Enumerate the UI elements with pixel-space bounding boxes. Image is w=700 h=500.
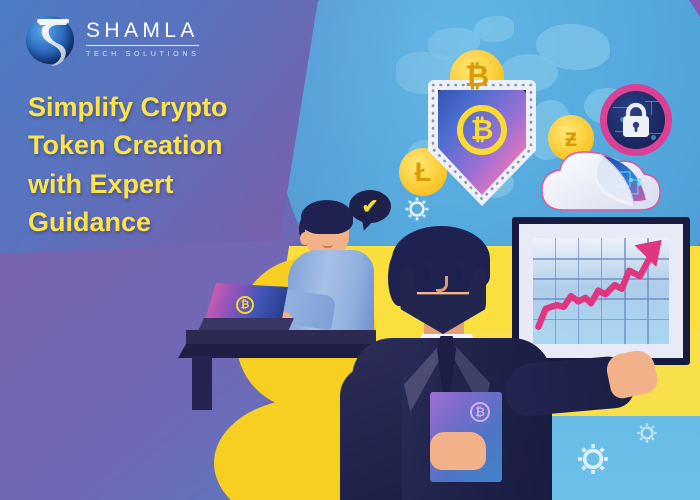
check-icon: ✔ (362, 194, 379, 219)
headline-line-1: Simplify Crypto (28, 88, 308, 126)
presenter-eyebrow-left (419, 260, 435, 264)
gear-icon (576, 442, 610, 476)
promo-banner: Ł ƶ ₿ ₿ (0, 0, 700, 500)
shield-icon: ₿ (428, 80, 536, 206)
chart-plot-area (533, 238, 669, 344)
presenter-hand-left (430, 432, 486, 470)
coin-symbol-zcash: ƶ (565, 124, 578, 153)
speech-bubble: ✔ (349, 190, 391, 223)
person-hair (301, 200, 353, 234)
brand-name: SHAMLA (86, 20, 199, 46)
headline-line-3: with Expert (28, 165, 308, 203)
shield-bitcoin-symbol: ₿ (457, 105, 507, 155)
s-ribbon-icon (28, 14, 76, 66)
growth-chart (512, 217, 690, 365)
page-title: Simplify Crypto Token Creation with Expe… (28, 88, 308, 241)
headline-line-2: Token Creation (28, 126, 308, 164)
coin-symbol-bitcoin: ₿ (465, 60, 489, 94)
brand-tagline: TECH SOLUTIONS (86, 49, 276, 58)
person-eye-left (318, 229, 322, 234)
presenter-arm-left (340, 366, 402, 500)
tablet-bitcoin-badge: ₿ (470, 402, 490, 422)
presenter-eye-left (423, 268, 430, 277)
desk-leg (192, 356, 212, 410)
person-eye-right (332, 229, 336, 234)
gear-icon (636, 422, 658, 444)
coin-symbol-litecoin: Ł (415, 157, 432, 188)
presenter-eyebrow-right (452, 260, 468, 264)
presenter-eye-right (455, 268, 462, 277)
headline-line-4: Guidance (28, 203, 308, 241)
chart-trend-arrow (533, 238, 669, 347)
padlock-icon (600, 84, 672, 156)
gear-icon (404, 196, 430, 222)
brand-logo[interactable]: SHAMLA TECH SOLUTIONS (26, 14, 276, 68)
laptop-bitcoin-badge: ₿ (236, 296, 254, 314)
